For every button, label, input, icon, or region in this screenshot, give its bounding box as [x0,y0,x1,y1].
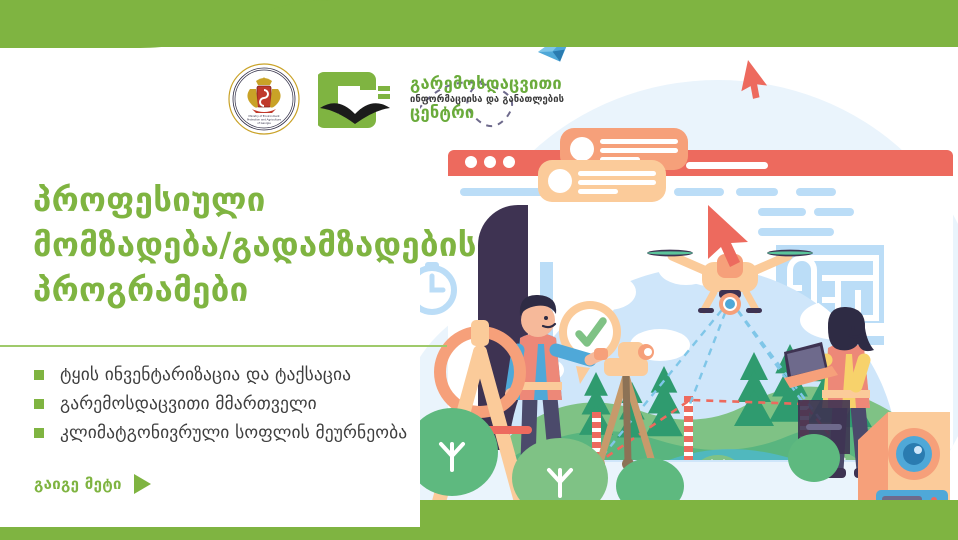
bottom-green-band [0,527,958,540]
list-item-label: ტყის ინვენტარიზაცია და ტაქსაცია [60,365,351,385]
georgia-state-emblem-icon: Ministry of Environment Protection and A… [228,63,300,135]
list-item: კლიმატგონივრული სოფლის მეურნეობა [34,418,504,447]
play-triangle-icon [134,474,151,494]
square-bullet-icon [34,399,44,409]
program-list: ტყის ინვენტარიზაცია და ტაქსაცია გარემოსდ… [34,360,504,447]
list-item-label: გარემოსდაცვითი მმართველი [60,394,317,414]
banner-canvas: Ministry of Environment Protection and A… [0,0,958,540]
page-title: პროფესიული მომზადება/გადამზადების პროგრა… [33,178,503,313]
header-logos: Ministry of Environment Protection and A… [228,60,564,138]
logo-line-3: ცენტრი [410,105,564,122]
list-item-label: კლიმატგონივრული სოფლის მეურნეობა [60,423,407,443]
page-title-line-1: პროფესიული [33,178,503,223]
svg-text:of Georgia: of Georgia [257,121,271,125]
learn-more-button[interactable]: გაიგე მეტი [34,474,151,494]
list-item: ტყის ინვენტარიზაცია და ტაქსაცია [34,360,504,389]
eiec-logo-icon [318,68,392,130]
logo-wordmark: გარემოსდაცვითი ინფორმაციისა და განათლები… [410,76,564,121]
page-title-line-2: მომზადება/გადამზადების [33,223,503,268]
logo-line-1: გარემოსდაცვითი [410,76,564,93]
divider [0,345,447,347]
page-title-line-3: პროგრამები [33,268,503,313]
list-item: გარემოსდაცვითი მმართველი [34,389,504,418]
square-bullet-icon [34,370,44,380]
svg-text:Ministry of Environment: Ministry of Environment [248,114,279,118]
learn-more-label: გაიგე მეტი [34,475,122,493]
square-bullet-icon [34,428,44,438]
svg-text:Protection and Agriculture: Protection and Agriculture [247,117,281,121]
